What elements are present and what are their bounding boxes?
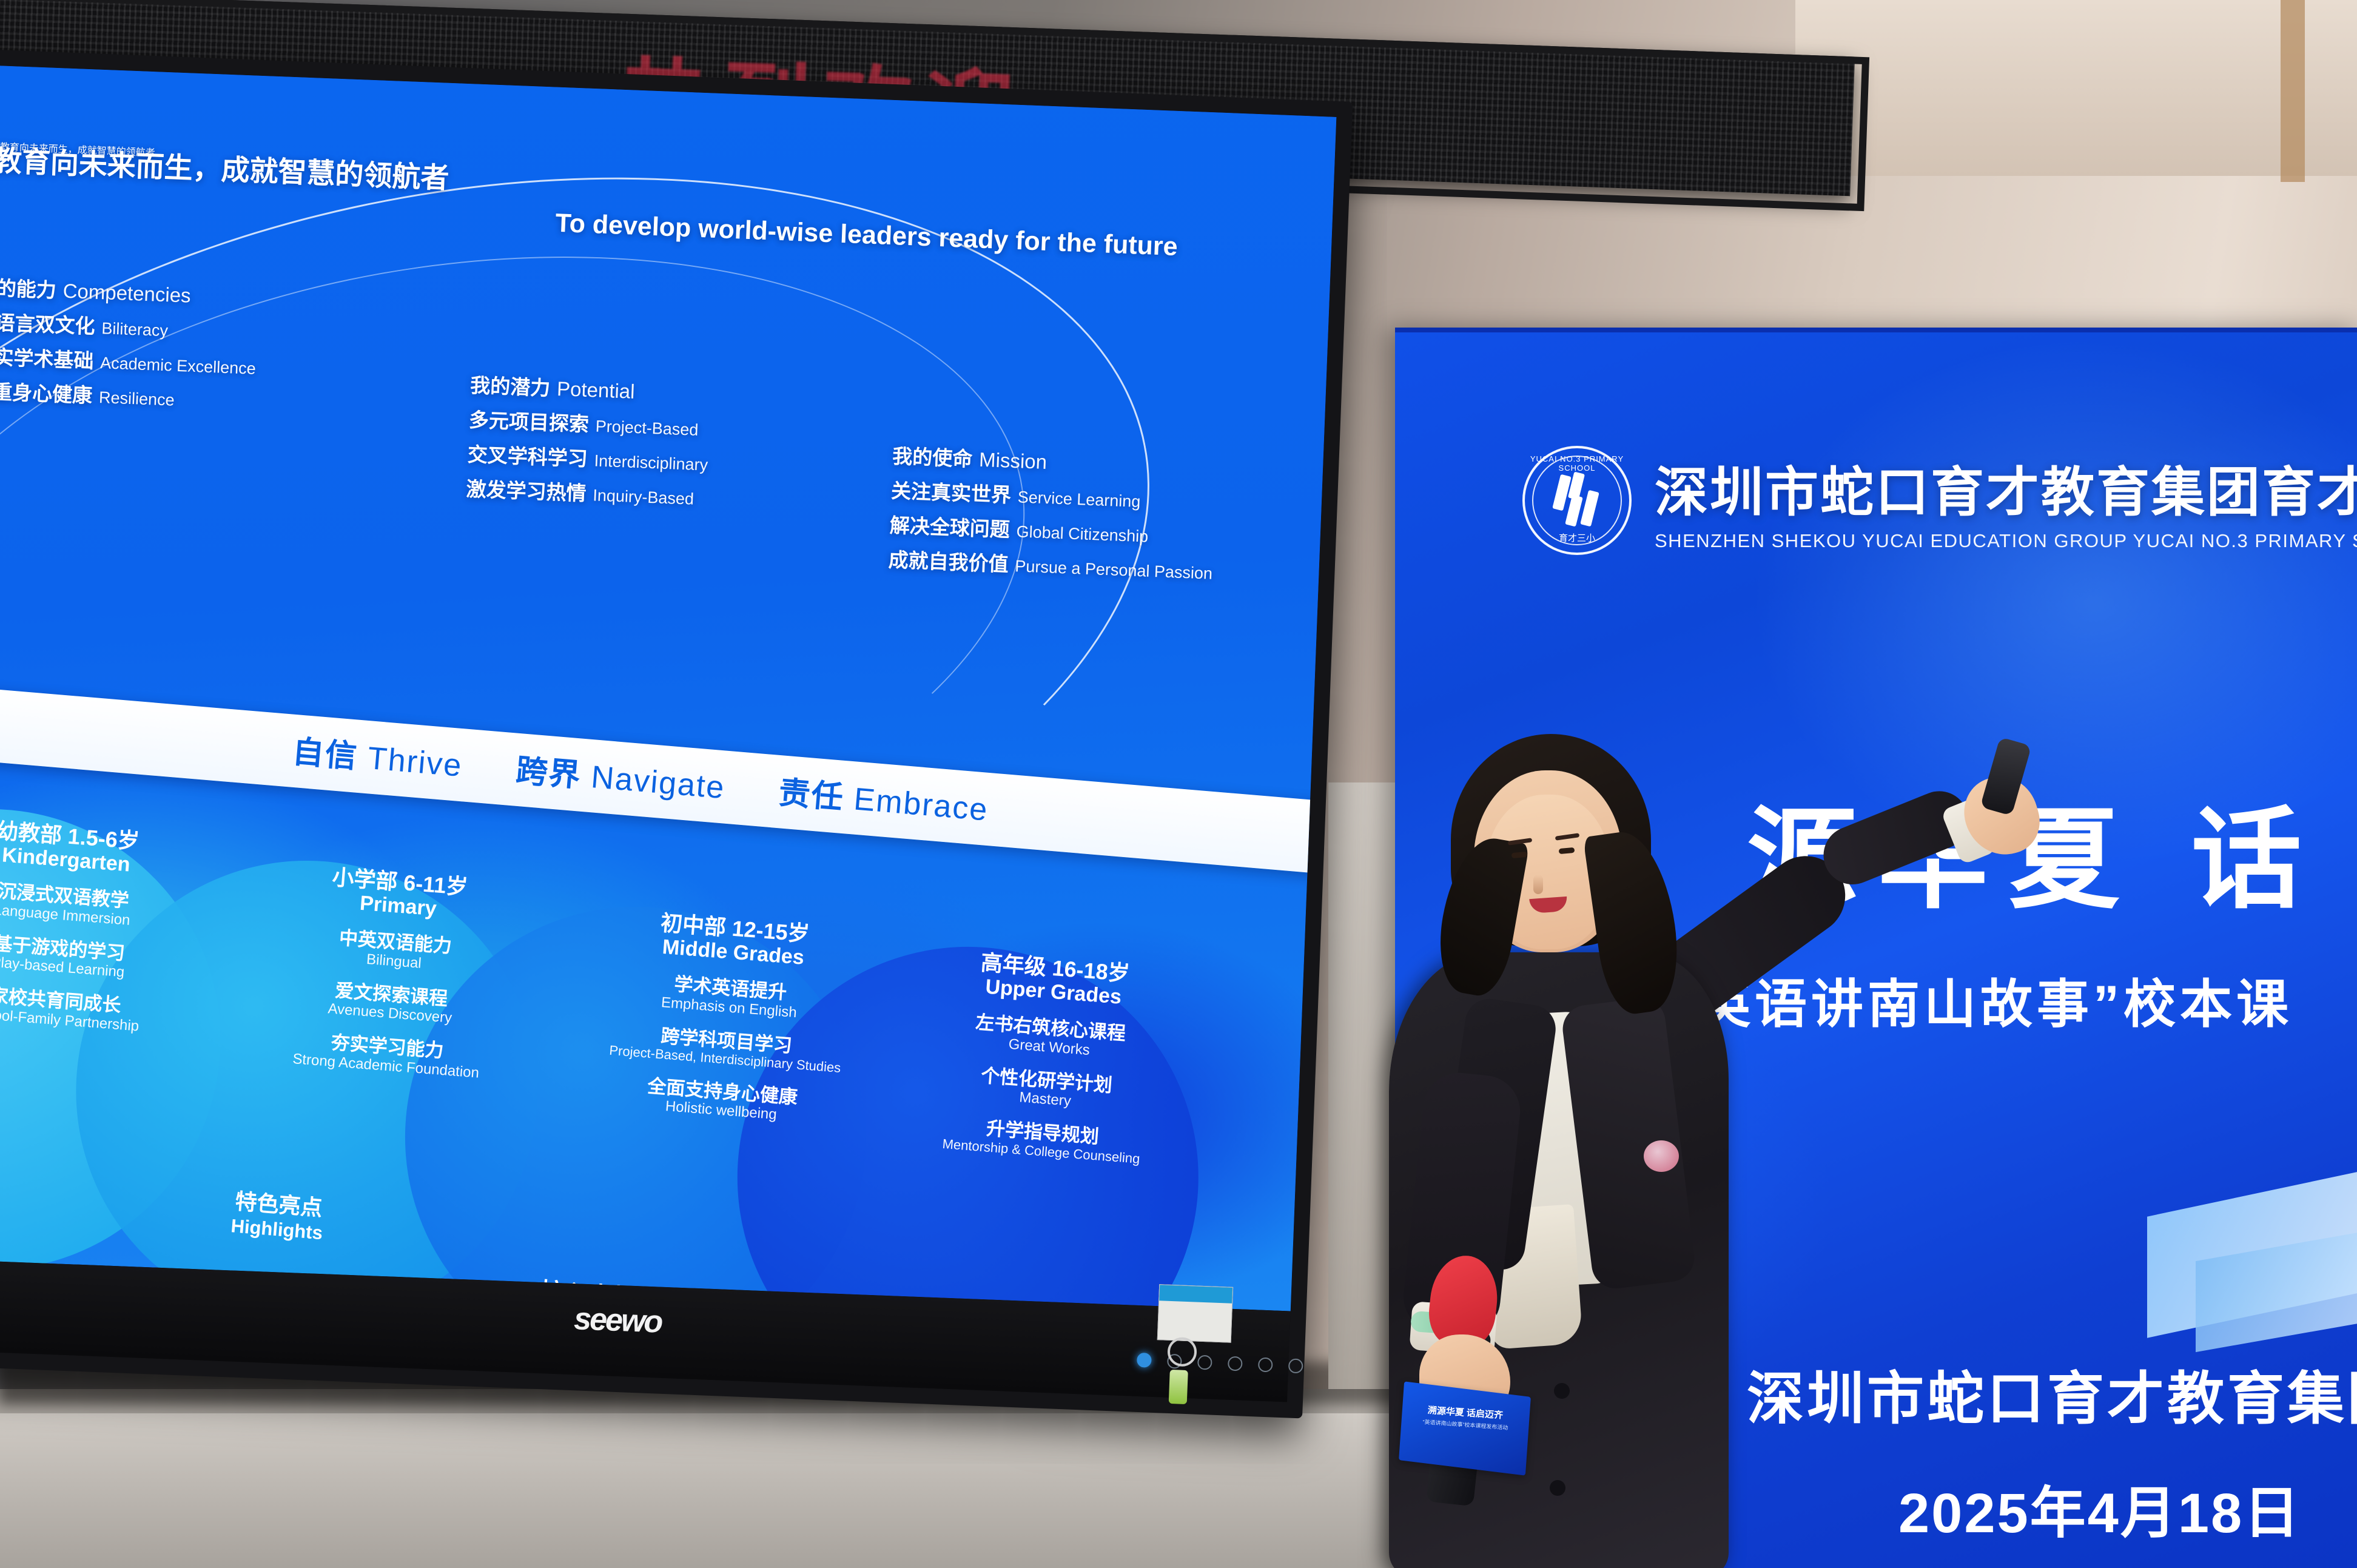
pillar-item-en: Inquiry-Based <box>593 486 694 508</box>
slide-title-cn-text: 教育向未来而生，成就智慧的领航者 <box>0 137 450 197</box>
pillar-item-en: Interdisciplinary <box>594 451 708 474</box>
power-button-icon[interactable] <box>1137 1353 1152 1368</box>
pillar-heading-en: Potential <box>556 377 635 403</box>
pillar-item-en: Pursue a Personal Passion <box>1015 557 1213 582</box>
wall-pillar <box>2281 0 2305 182</box>
presenter-nose <box>1533 875 1543 894</box>
stage-block-middle: 初中部 12-15岁 Middle Grades 学术英语提升 Emphasis… <box>584 906 872 1131</box>
pillar-item-cn: 双语言双文化 <box>0 311 95 338</box>
key-tag <box>1169 1370 1188 1404</box>
pillar-item-cn: 关注真实世界 <box>890 479 1011 506</box>
volume-button-icon[interactable] <box>1258 1358 1273 1373</box>
back-button-icon[interactable] <box>1197 1355 1212 1370</box>
jacket-button <box>1550 1480 1565 1496</box>
backdrop-date: 2025年4月18日 <box>1898 1468 2301 1549</box>
value-cn: 跨界 <box>514 753 582 794</box>
stage-block-primary: 小学部 6-11岁 Primary 中英双语能力 Bilingual 爱文探索课… <box>264 861 522 1084</box>
pillar-item-cn: 注重身心健康 <box>0 380 93 407</box>
photo-scene: 热烈欢迎 教育向未来而生，成就智慧的领航者 教育向未来而生，成就智慧的领航者 T… <box>0 0 2357 1568</box>
pillar-item-cn: 成就自我价值 <box>888 548 1009 576</box>
school-seal-icon: YUCAI NO.3 PRIMARY SCHOOL 育才三小 <box>1522 446 1632 555</box>
panel-control-buttons[interactable] <box>1137 1353 1303 1374</box>
menu-button-icon[interactable] <box>1228 1356 1243 1371</box>
seewo-logo: seewo <box>573 1300 662 1340</box>
pillar-potential: 我的潜力Potential 多元项目探索Project-Based 交叉学科学习… <box>466 369 711 516</box>
school-name-cn: 深圳市蛇口育才教育集团育才三小 <box>1655 449 2357 527</box>
pillar-item-cn: 解决全球问题 <box>889 514 1010 541</box>
pillar-heading-cn: 我的使命 <box>892 445 973 470</box>
wall-upper-panel <box>1795 0 2357 176</box>
pillar-heading-en: Mission <box>979 448 1047 473</box>
stage-front-edge <box>0 1413 1419 1568</box>
presenter-brooch <box>1644 1140 1679 1172</box>
pillar-item-en: Service Learning <box>1017 488 1141 511</box>
interactive-flat-panel[interactable]: 教育向未来而生，成就智慧的领航者 教育向未来而生，成就智慧的领航者 To dev… <box>0 49 1353 1418</box>
pillar-item-en: Project-Based <box>595 417 699 439</box>
asset-sticker <box>1157 1284 1233 1343</box>
backdrop-organizer: 深圳市蛇口育才教育集团 <box>1747 1353 2357 1435</box>
presentation-slide: 教育向未来而生，成就智慧的领航者 教育向未来而生，成就智慧的领航者 To dev… <box>0 65 1336 1311</box>
pillar-heading-en: Competencies <box>62 280 191 307</box>
pillar-mission: 我的使命Mission 关注真实世界Service Learning 解决全球问… <box>888 440 1217 590</box>
pillar-heading-cn: 我的能力 <box>0 276 57 301</box>
backdrop-subheadline: 英语讲南山故事”校本课 <box>1698 961 2293 1037</box>
seal-monogram-icon <box>1553 473 1602 528</box>
school-name-en: SHENZHEN SHEKOU YUCAI EDUCATION GROUP YU… <box>1655 530 2357 552</box>
pillar-item-cn: 激发学习热情 <box>466 477 587 505</box>
pillar-heading-cn: 我的潜力 <box>470 374 551 399</box>
pillar-item-en: Biliteracy <box>101 319 169 340</box>
presenter: 溯源华夏 话启迈齐 “英语讲南山故事”校本课程发布活动 <box>1292 698 1777 1568</box>
panel-screen: 教育向未来而生，成就智慧的领航者 教育向未来而生，成就智慧的领航者 To dev… <box>0 65 1336 1311</box>
pillar-item-en: Academic Excellence <box>100 354 257 378</box>
jacket-button <box>1554 1383 1570 1399</box>
pillar-item-cn: 扎实学术基础 <box>0 345 94 372</box>
key-fob <box>1166 1337 1195 1405</box>
stage-block-upper: 高年级 16-18岁 Upper Grades 左书右筑核心课程 Great W… <box>904 946 1192 1170</box>
school-identity: YUCAI NO.3 PRIMARY SCHOOL 育才三小 深圳市蛇口育才教育… <box>1522 446 2357 555</box>
highlights-label: 特色亮点 Highlights <box>230 1183 326 1244</box>
key-ring-icon <box>1167 1337 1197 1367</box>
value-cn: 自信 <box>291 735 359 775</box>
stage-block-kindergarten: 幼教部 1.5-6岁 Kindergarten 沉浸式双语教学 Language… <box>0 815 190 1038</box>
pillar-item-en: Global Citizenship <box>1016 522 1149 545</box>
pillar-competencies: 我的能力Competencies 双语言双文化Biliteracy 扎实学术基础… <box>0 271 259 420</box>
pillar-item-en: Resilience <box>99 388 175 409</box>
seal-bottom-text: 育才三小 <box>1525 531 1629 544</box>
pillar-item-cn: 多元项目探索 <box>468 408 589 436</box>
value-en: Thrive <box>366 741 464 784</box>
value-cn: 责任 <box>777 775 845 816</box>
seal-top-text: YUCAI NO.3 PRIMARY SCHOOL <box>1525 454 1629 473</box>
pillar-item-cn: 交叉学科学习 <box>467 443 588 470</box>
